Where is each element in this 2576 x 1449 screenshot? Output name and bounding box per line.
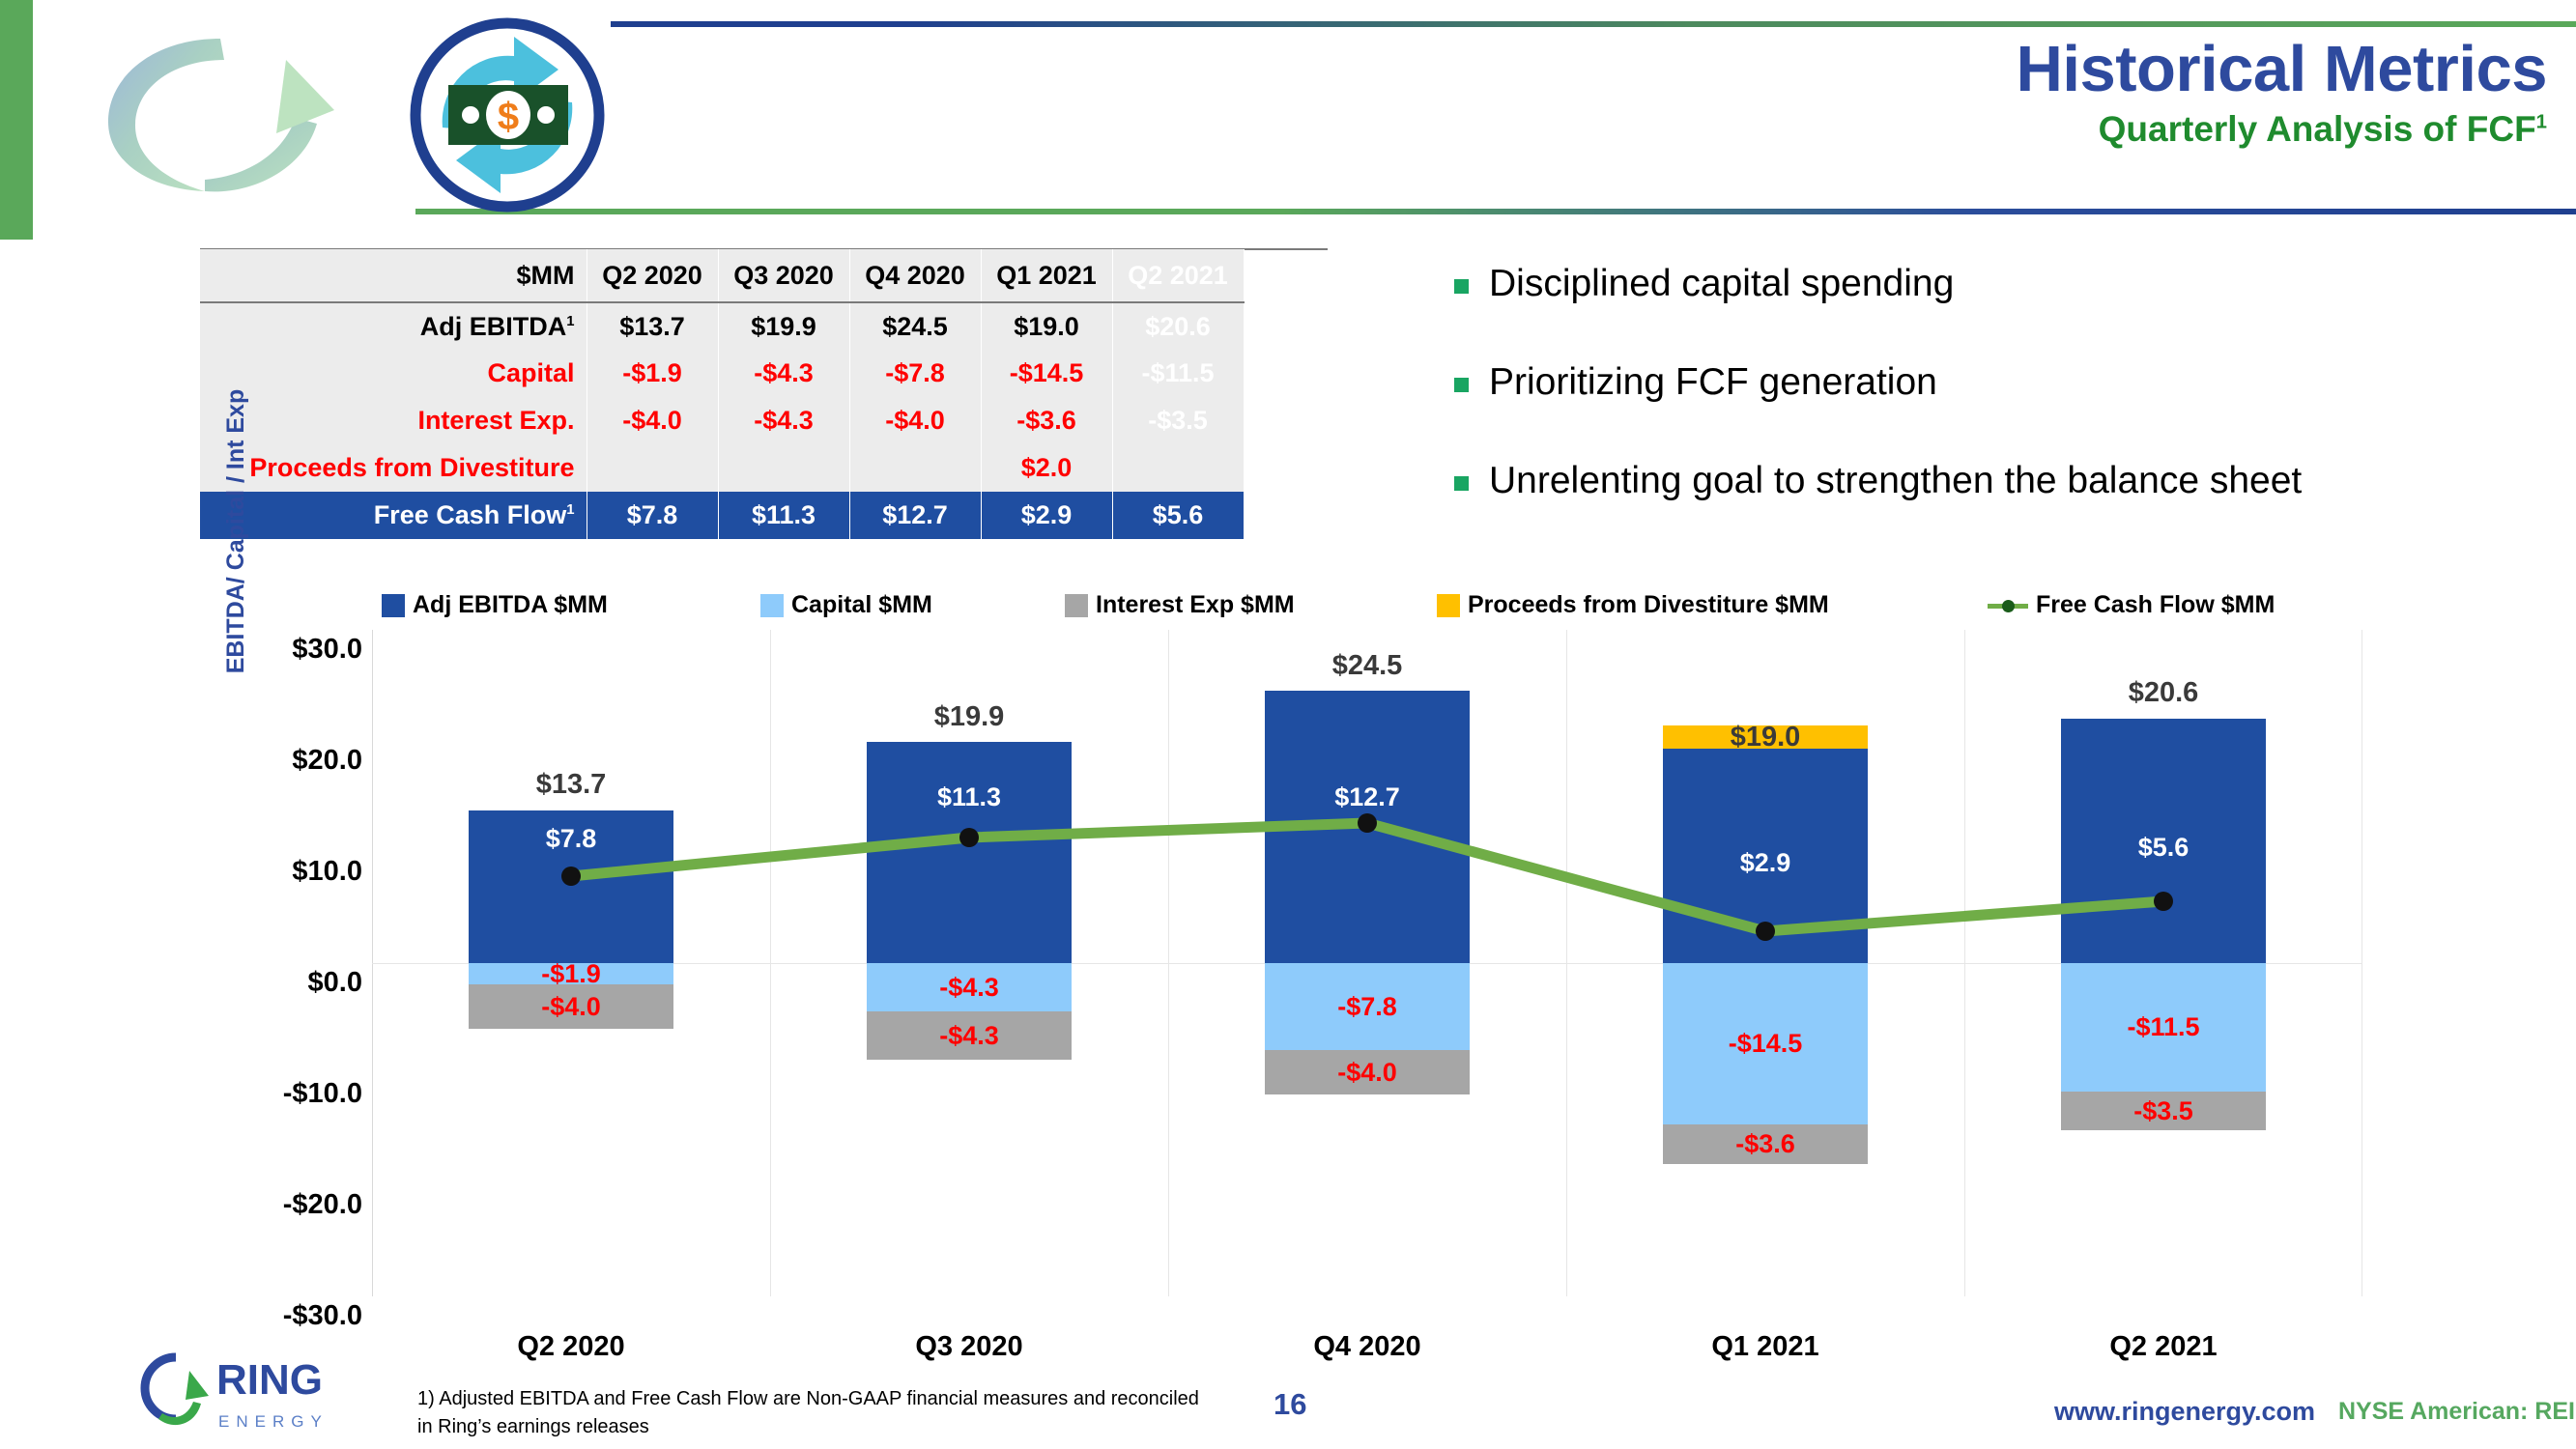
row-label-text: Adj EBITDA bbox=[420, 312, 567, 341]
left-accent-bar bbox=[0, 0, 33, 240]
bullet-square-icon bbox=[1454, 476, 1469, 491]
page-subtitle-text: Quarterly Analysis of FCF bbox=[2099, 109, 2536, 149]
table-header-q2-2020: Q2 2020 bbox=[587, 249, 718, 302]
legend-label: Proceeds from Divestiture $MM bbox=[1468, 591, 1829, 619]
x-axis-tick-q3-2020: Q3 2020 bbox=[824, 1331, 1114, 1363]
row-label-adj-ebitda: Adj EBITDA1 bbox=[200, 302, 587, 350]
cell-capital-q2-2020: -$1.9 bbox=[587, 350, 718, 397]
x-axis-tick-q2-2020: Q2 2020 bbox=[426, 1331, 716, 1363]
metrics-table: $MM Q2 2020 Q3 2020 Q4 2020 Q1 2021 Q2 2… bbox=[200, 249, 1245, 539]
y-axis-tick-10: $10.0 bbox=[188, 856, 362, 888]
cell-interest-q1-2021: -$3.6 bbox=[981, 397, 1112, 444]
row-label-capital: Capital bbox=[200, 350, 587, 397]
slide: $ Historical Metrics Quarterly Analysis … bbox=[0, 0, 2576, 1449]
page-subtitle: Quarterly Analysis of FCF1 bbox=[1291, 109, 2547, 150]
table-row-interest-exp: Interest Exp. -$4.0 -$4.3 -$4.0 -$3.6 -$… bbox=[200, 397, 1244, 444]
y-axis-tick-n20: -$20.0 bbox=[188, 1189, 362, 1221]
ring-logo-wordmark: RING bbox=[216, 1356, 323, 1404]
ring-energy-logo: RING ENERGY bbox=[135, 1348, 367, 1439]
cell-fcf-q1-2021: $2.9 bbox=[981, 492, 1112, 539]
x-axis-tick-q1-2021: Q1 2021 bbox=[1620, 1331, 1910, 1363]
legend-swatch-icon bbox=[382, 594, 405, 617]
cell-capital-q3-2020: -$4.3 bbox=[718, 350, 849, 397]
cell-adj-ebitda-q3-2020: $19.9 bbox=[718, 302, 849, 350]
legend-item-free-cash-flow[interactable]: Free Cash Flow $MM bbox=[1988, 591, 2275, 619]
legend-swatch-icon bbox=[1437, 594, 1460, 617]
cell-capital-q1-2021: -$14.5 bbox=[981, 350, 1112, 397]
legend-swatch-icon bbox=[1065, 594, 1088, 617]
cell-proceeds-q4-2020 bbox=[849, 444, 981, 492]
legend-label: Free Cash Flow $MM bbox=[2036, 591, 2275, 619]
cell-fcf-q3-2020: $11.3 bbox=[718, 492, 849, 539]
cell-interest-q2-2020: -$4.0 bbox=[587, 397, 718, 444]
table-header-q2-2021: Q2 2021 bbox=[1112, 249, 1244, 302]
bullet-text: Disciplined capital spending bbox=[1489, 263, 1954, 306]
table-header-q4-2020: Q4 2020 bbox=[849, 249, 981, 302]
legend-label: Interest Exp $MM bbox=[1096, 591, 1295, 619]
cell-proceeds-q2-2021 bbox=[1112, 444, 1244, 492]
list-item: Prioritizing FCF generation bbox=[1454, 361, 2556, 405]
page-title: Historical Metrics bbox=[1291, 35, 2547, 103]
cell-fcf-q4-2020: $12.7 bbox=[849, 492, 981, 539]
y-axis-title: EBITDA/ Capital / Int Exp bbox=[222, 328, 250, 734]
table-row-capital: Capital -$1.9 -$4.3 -$7.8 -$14.5 -$11.5 bbox=[200, 350, 1244, 397]
x-axis-tick-q2-2021: Q2 2021 bbox=[2018, 1331, 2308, 1363]
legend-item-proceeds[interactable]: Proceeds from Divestiture $MM bbox=[1437, 591, 1988, 619]
cell-capital-q4-2020: -$7.8 bbox=[849, 350, 981, 397]
legend-item-capital[interactable]: Capital $MM bbox=[760, 591, 1065, 619]
legend-label: Capital $MM bbox=[791, 591, 932, 619]
page-number: 16 bbox=[1274, 1387, 1306, 1422]
row-label-text: Free Cash Flow bbox=[374, 500, 567, 529]
table-header-q1-2021: Q1 2021 bbox=[981, 249, 1112, 302]
bullet-square-icon bbox=[1454, 378, 1469, 392]
table-header-row: $MM Q2 2020 Q3 2020 Q4 2020 Q1 2021 Q2 2… bbox=[200, 249, 1244, 302]
cell-fcf-q2-2021: $5.6 bbox=[1112, 492, 1244, 539]
y-axis-tick-n10: -$10.0 bbox=[188, 1078, 362, 1110]
cell-interest-q4-2020: -$4.0 bbox=[849, 397, 981, 444]
cell-interest-q3-2020: -$4.3 bbox=[718, 397, 849, 444]
legend-swatch-icon bbox=[760, 594, 784, 617]
free-cash-flow-line bbox=[372, 630, 2362, 1296]
list-item: Unrelenting goal to strengthen the balan… bbox=[1454, 460, 2556, 503]
cell-adj-ebitda-q2-2021: $20.6 bbox=[1112, 302, 1244, 350]
y-axis-tick-0: $0.0 bbox=[188, 967, 362, 999]
list-item: Disciplined capital spending bbox=[1454, 263, 2556, 306]
footnote-text: 1) Adjusted EBITDA and Free Cash Flow ar… bbox=[417, 1385, 1219, 1441]
legend-line-marker-icon bbox=[1988, 594, 2028, 617]
header-rule-top bbox=[611, 21, 2576, 27]
page-subtitle-superscript: 1 bbox=[2536, 112, 2547, 133]
cell-fcf-q2-2020: $7.8 bbox=[587, 492, 718, 539]
table-header-q3-2020: Q3 2020 bbox=[718, 249, 849, 302]
cell-capital-q2-2021: -$11.5 bbox=[1112, 350, 1244, 397]
legend-label: Adj EBITDA $MM bbox=[413, 591, 608, 619]
row-label-proceeds: Proceeds from Divestiture bbox=[200, 444, 587, 492]
stock-ticker: NYSE American: REI bbox=[2338, 1398, 2575, 1426]
bullet-text: Prioritizing FCF generation bbox=[1489, 361, 1937, 405]
metrics-table-wrapper: $MM Q2 2020 Q3 2020 Q4 2020 Q1 2021 Q2 2… bbox=[200, 249, 1245, 539]
cell-proceeds-q2-2020 bbox=[587, 444, 718, 492]
title-block: Historical Metrics Quarterly Analysis of… bbox=[1291, 35, 2547, 150]
cell-proceeds-q1-2021: $2.0 bbox=[981, 444, 1112, 492]
row-label-free-cash-flow: Free Cash Flow1 bbox=[200, 492, 587, 539]
y-axis-tick-n30: -$30.0 bbox=[188, 1300, 362, 1332]
cell-adj-ebitda-q1-2021: $19.0 bbox=[981, 302, 1112, 350]
cell-interest-q2-2021: -$3.5 bbox=[1112, 397, 1244, 444]
legend-item-interest-exp[interactable]: Interest Exp $MM bbox=[1065, 591, 1437, 619]
chart-plot-area: $13.7 $7.8 -$1.9 -$4.0 $19.9 $11.3 -$4.3… bbox=[372, 630, 2362, 1296]
y-axis-tick-20: $20.0 bbox=[188, 745, 362, 777]
row-label-interest-exp: Interest Exp. bbox=[200, 397, 587, 444]
cash-cycle-icon: $ bbox=[406, 14, 609, 216]
key-points-list: Disciplined capital spending Prioritizin… bbox=[1454, 263, 2556, 558]
row-label-superscript: 1 bbox=[566, 314, 574, 329]
legend-item-adj-ebitda[interactable]: Adj EBITDA $MM bbox=[382, 591, 760, 619]
bullet-text: Unrelenting goal to strengthen the balan… bbox=[1489, 460, 2302, 503]
svg-text:$: $ bbox=[498, 96, 519, 138]
cell-proceeds-q3-2020 bbox=[718, 444, 849, 492]
circular-arrow-icon bbox=[97, 17, 348, 211]
cell-adj-ebitda-q4-2020: $24.5 bbox=[849, 302, 981, 350]
chart-legend: Adj EBITDA $MM Capital $MM Interest Exp … bbox=[382, 591, 2372, 619]
y-axis-tick-30: $30.0 bbox=[188, 634, 362, 666]
table-row-free-cash-flow: Free Cash Flow1 $7.8 $11.3 $12.7 $2.9 $5… bbox=[200, 492, 1244, 539]
ring-logo-tagline: ENERGY bbox=[218, 1412, 329, 1431]
table-header-unit: $MM bbox=[200, 249, 587, 302]
x-axis-tick-q4-2020: Q4 2020 bbox=[1222, 1331, 1512, 1363]
cell-adj-ebitda-q2-2020: $13.7 bbox=[587, 302, 718, 350]
table-row-adj-ebitda: Adj EBITDA1 $13.7 $19.9 $24.5 $19.0 $20.… bbox=[200, 302, 1244, 350]
row-label-superscript: 1 bbox=[566, 502, 574, 518]
table-row-proceeds: Proceeds from Divestiture $2.0 bbox=[200, 444, 1244, 492]
header-rule-bottom bbox=[415, 209, 2576, 214]
bullet-square-icon bbox=[1454, 279, 1469, 294]
website-link[interactable]: www.ringenergy.com bbox=[2054, 1397, 2315, 1427]
